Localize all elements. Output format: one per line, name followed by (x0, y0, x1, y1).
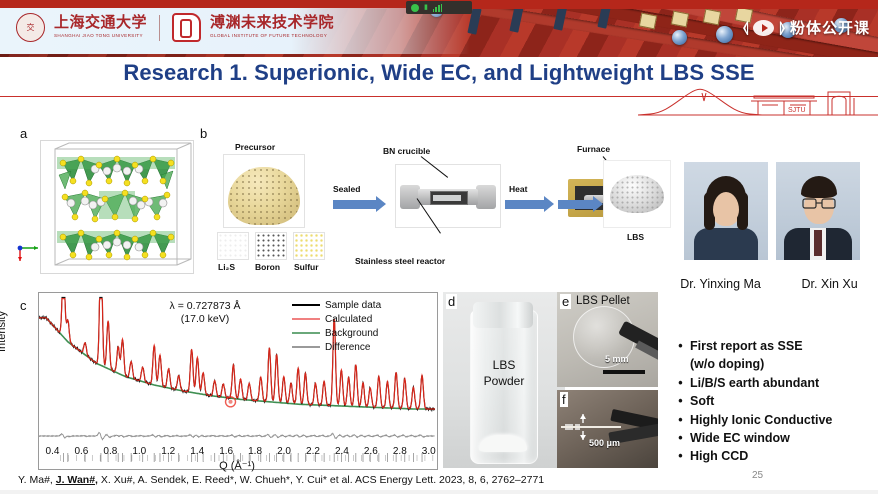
panel-label-e: e (560, 294, 571, 309)
x-tick-label: 1.6 (219, 446, 233, 457)
watermark-bracket-right: ⦊ (779, 19, 785, 36)
page-number: 25 (752, 470, 763, 481)
citation-post: X. Xu#, A. Sendek, E. Reed*, W. Chueh*, … (98, 474, 544, 486)
powder-texture (228, 167, 300, 225)
x-tick-label: 1.2 (161, 446, 175, 457)
powder-label-line2: Powder (443, 374, 565, 388)
lbs-product (610, 175, 664, 213)
list-item-label: Wide EC window (690, 429, 790, 447)
x-tick-label: 1.0 (132, 446, 146, 457)
product-image (603, 160, 671, 228)
bn-crucible-label: BN crucible (383, 146, 430, 156)
legend-swatch (292, 332, 320, 334)
reagent-image-li2s (217, 232, 249, 260)
citation-pre: Y. Ma#, (18, 474, 56, 486)
lbs-powder-photo: LBS Powder (443, 292, 565, 468)
lbs-thin-film-photo: 500 μm (557, 390, 658, 468)
legend-label: Calculated (325, 314, 372, 325)
citation: Y. Ma#, J. Wan#, X. Xu#, A. Sendek, E. R… (18, 474, 544, 486)
x-axis-label: Q (Å⁻¹) (38, 459, 436, 472)
x-tick-label: 0.8 (103, 446, 117, 457)
legend-label: Difference (325, 342, 370, 353)
recording-dot-icon (411, 4, 419, 12)
sjtu-name-cn: 上海交通大学 (54, 16, 147, 32)
reactor-image (395, 164, 501, 228)
reagent-image-boron (255, 232, 287, 260)
product-label: LBS (627, 232, 644, 242)
wavelength-line1: λ = 0.727873 Å (120, 300, 290, 313)
pellet-title: LBS Pellet (576, 295, 630, 307)
status-indicator: ▮ (406, 1, 472, 14)
citation-highlight: J. Wan#, (56, 474, 98, 486)
furnace-label: Furnace (577, 144, 610, 154)
roof-tile (639, 13, 657, 30)
sjtu-logo-text: 上海交通大学 SHANGHAI JIAO TONG UNIVERSITY (54, 16, 147, 38)
reactor-label: Stainless steel reactor (355, 256, 445, 266)
sjtu-campus-gate-graphic: SJTU (638, 86, 878, 116)
arrow-label-sealed: Sealed (333, 184, 360, 194)
wavelength-line2: (17.0 keV) (120, 313, 290, 326)
panel-label-a: a (20, 126, 27, 141)
precursor-label: Precursor (235, 142, 275, 152)
list-item: •High CCD (678, 447, 878, 465)
x-axis-ticks: 0.40.60.81.01.21.41.61.82.02.22.42.62.83… (38, 446, 436, 460)
panel-label-f: f (560, 392, 568, 407)
precursor-image (223, 154, 305, 228)
powder-pile (479, 435, 527, 452)
bullet-dot-icon: • (678, 447, 683, 465)
legend-swatch (292, 318, 320, 320)
x-tick-label: 0.6 (74, 446, 88, 457)
bullet-dot-icon: • (678, 374, 683, 392)
legend-swatch (292, 346, 320, 348)
x-tick-label: 2.4 (335, 446, 349, 457)
arrow-label-heat: Heat (509, 184, 527, 194)
page-title: Research 1. Superionic, Wide EC, and Lig… (0, 60, 878, 86)
sjtu-name-en: SHANGHAI JIAO TONG UNIVERSITY (54, 33, 147, 39)
roof-knob (672, 30, 687, 45)
x-tick-label: 2.2 (306, 446, 320, 457)
gift-name-en: GLOBAL INSTITUTE OF FUTURE TECHNOLOGY (210, 33, 334, 39)
bullet-dot-icon: • (678, 392, 683, 410)
signal-bars-icon (433, 4, 442, 12)
axis-orientation-icon (16, 236, 40, 262)
watermark-text: 粉体公开课 (790, 17, 870, 38)
slide: 交 上海交通大学 SHANGHAI JIAO TONG UNIVERSITY 溥… (0, 0, 878, 494)
scale-label-f: 500 μm (589, 438, 620, 448)
legend-item-difference: Difference (292, 340, 414, 354)
x-tick-label: 3.0 (422, 446, 436, 457)
bullet-dot-icon: • (678, 337, 683, 355)
wavelength-annotation: λ = 0.727873 Å (17.0 keV) (120, 300, 290, 326)
list-item-sublabel: (w/o doping) (690, 355, 878, 373)
x-tick-label: 0.4 (46, 446, 60, 457)
reagent-label-boron: Boron (255, 262, 280, 272)
chart-legend: Sample data Calculated Background Differ… (292, 298, 414, 354)
battery-icon: ▮ (424, 4, 428, 11)
panel-label-c: c (20, 298, 27, 313)
gift-logo-text: 溥渊未来技术学院 GLOBAL INSTITUTE OF FUTURE TECH… (210, 16, 334, 38)
portrait-yinxing-ma (684, 162, 768, 260)
sjtu-seal-icon: 交 (16, 13, 45, 42)
x-tick-label: 2.8 (393, 446, 407, 457)
legend-label: Sample data (325, 300, 381, 311)
bullet-dot-icon: • (678, 411, 683, 429)
legend-item-calculated: Calculated (292, 312, 414, 326)
list-item: •Wide EC window (678, 429, 878, 447)
list-item-label: First report as SSE (690, 337, 803, 355)
reagent-label-sulfur: Sulfur (294, 262, 319, 272)
legend-swatch (292, 304, 320, 306)
x-tick-label: 1.4 (190, 446, 204, 457)
gift-name-cn: 溥渊未来技术学院 (210, 16, 334, 32)
powder-label-line1: LBS (443, 358, 565, 372)
logo-divider (159, 15, 160, 41)
reagent-image-sulfur (293, 232, 325, 260)
x-tick-label: 1.8 (248, 446, 262, 457)
precursor-powder (228, 167, 300, 225)
x-tick-label: 2.6 (364, 446, 378, 457)
panel-label-d: d (446, 294, 457, 309)
watermark-bracket-left: ⦉ (743, 19, 749, 36)
scale-label-e: 5 mm (605, 354, 629, 364)
key-findings-list: •First report as SSE(w/o doping)•Li/B/S … (678, 337, 878, 466)
roof-tile (671, 11, 689, 28)
list-item: •Highly Ionic Conductive (678, 411, 878, 429)
arrow-sealed (333, 200, 377, 209)
header-banner: 交 上海交通大学 SHANGHAI JIAO TONG UNIVERSITY 溥… (0, 0, 878, 57)
logo-group: 交 上海交通大学 SHANGHAI JIAO TONG UNIVERSITY 溥… (16, 13, 334, 42)
portrait-xin-xu (776, 162, 860, 260)
person-name: Dr. Xin Xu (801, 277, 857, 291)
crystal-structure-figure (40, 140, 194, 274)
gate-label: SJTU (788, 107, 806, 114)
arrow-to-product (558, 200, 594, 209)
bn-crucible (430, 191, 468, 205)
watermark-logo: ⦉ ⦊ 粉体公开课 (743, 17, 870, 38)
x-tick-label: 2.0 (277, 446, 291, 457)
legend-item-sample: Sample data (292, 298, 414, 312)
bottom-edge (0, 490, 878, 494)
list-item: •Soft (678, 392, 878, 410)
person-name: Dr. Yinxing Ma (680, 277, 761, 291)
people-names: Dr. Yinxing Ma Dr. Xin Xu (660, 277, 878, 291)
reagent-label-li2s: Li₂S (218, 262, 235, 272)
list-item-label: Highly Ionic Conductive (690, 411, 832, 429)
list-item-label: High CCD (690, 447, 748, 465)
legend-label: Background (325, 328, 378, 339)
list-item: •Li/B/S earth abundant (678, 374, 878, 392)
roof-tile (703, 9, 721, 26)
list-item-label: Li/B/S earth abundant (690, 374, 819, 392)
play-icon (753, 20, 774, 36)
y-axis-label: Intensity (0, 311, 8, 352)
legend-item-background: Background (292, 326, 414, 340)
sjtu-seal-text: 交 (27, 24, 35, 32)
gift-logo-icon (172, 13, 201, 42)
bullet-dot-icon: • (678, 429, 683, 447)
vial-cap (473, 302, 533, 328)
panel-label-b: b (200, 126, 207, 141)
scale-bar-e (603, 370, 645, 374)
necktie (814, 230, 822, 256)
stainless-steel-reactor (400, 185, 496, 209)
list-item-label: Soft (690, 392, 714, 410)
glasses-icon (802, 196, 838, 210)
list-item: •First report as SSE (678, 337, 878, 355)
roof-knob (716, 26, 733, 43)
